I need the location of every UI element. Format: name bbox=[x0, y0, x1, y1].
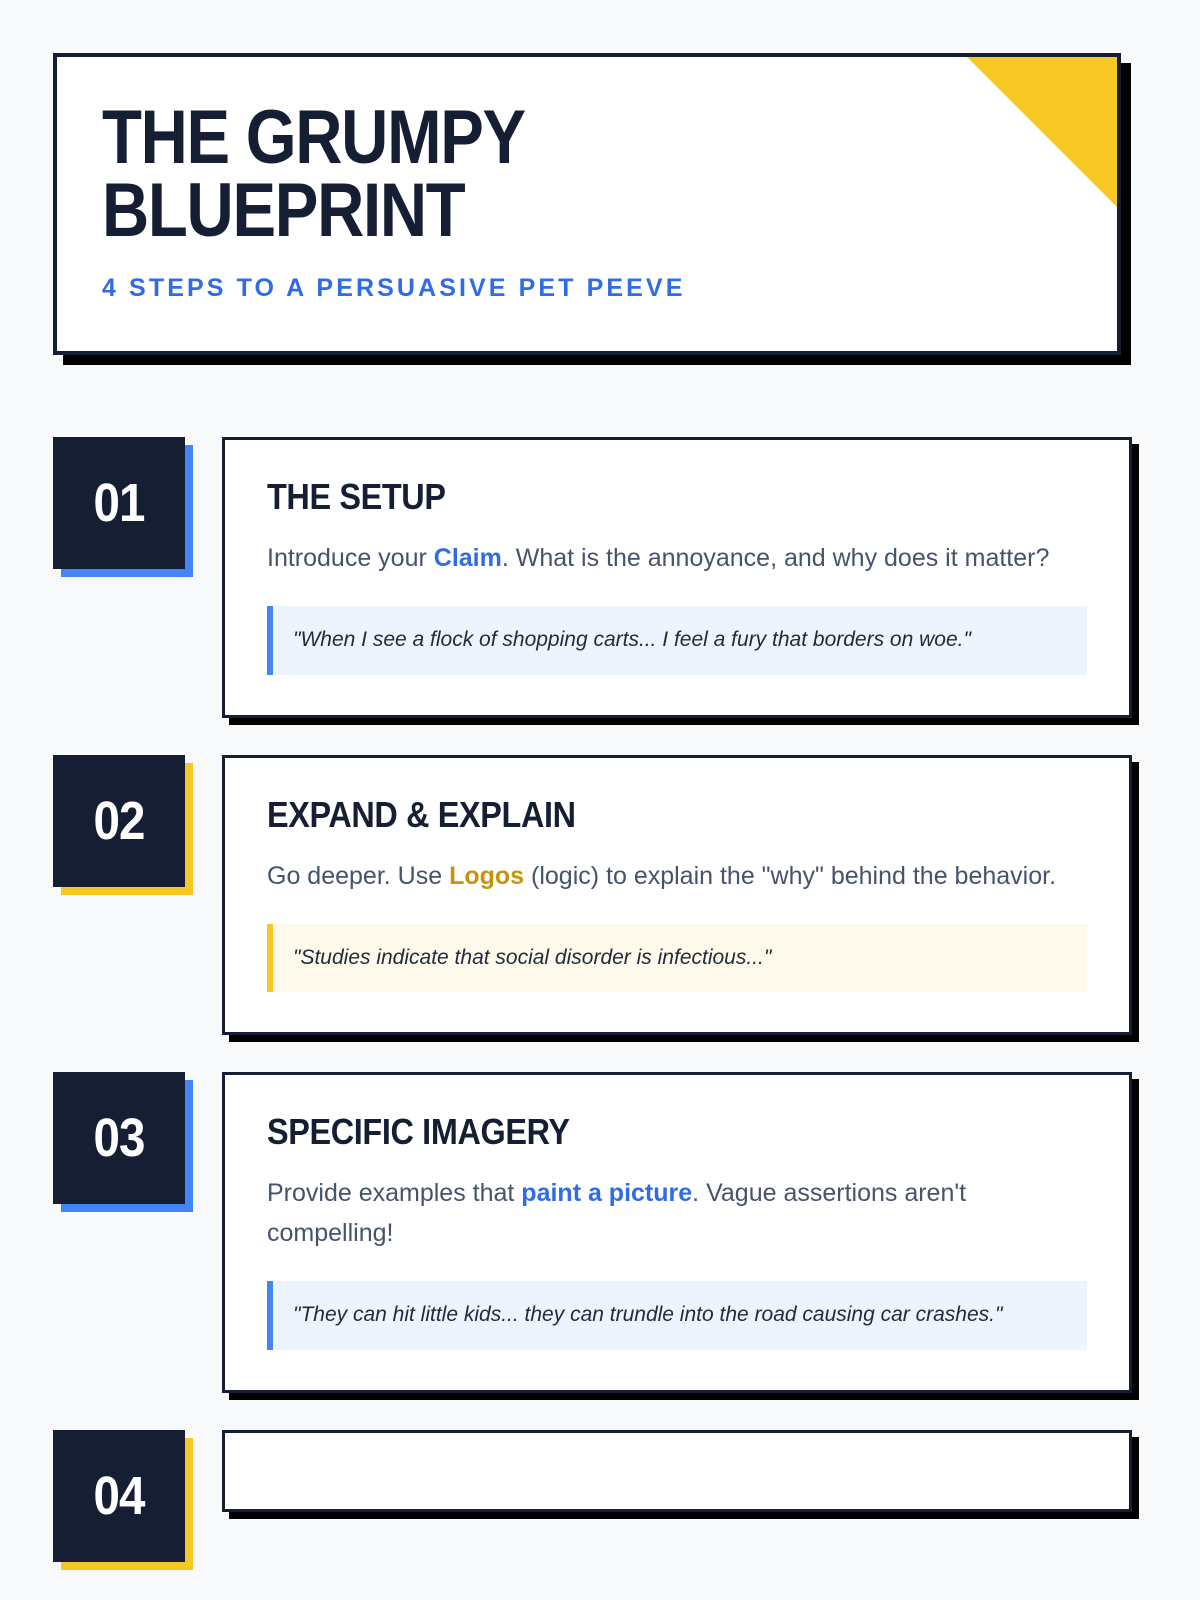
step-description: Go deeper. Use Logos (logic) to explain … bbox=[267, 856, 1087, 896]
step-number-badge: 02 bbox=[53, 755, 193, 895]
step-card bbox=[222, 1430, 1132, 1512]
page-subtitle: 4 STEPS TO A PERSUASIVE PET PEEVE bbox=[102, 274, 1117, 303]
desc-text-before: Introduce your bbox=[267, 544, 434, 572]
desc-highlight: Logos bbox=[449, 862, 524, 890]
page-title: THE GRUMPY BLUEPRINT bbox=[102, 102, 975, 248]
step-quote: "When I see a flock of shopping carts...… bbox=[267, 606, 1087, 675]
step-quote: "They can hit little kids... they can tr… bbox=[267, 1281, 1087, 1350]
desc-text-after: (logic) to explain the "why" behind the … bbox=[524, 862, 1056, 890]
desc-text-after: . What is the annoyance, and why does it… bbox=[502, 544, 1050, 572]
desc-highlight: paint a picture bbox=[521, 1179, 692, 1207]
step-card: THE SETUP Introduce your Claim. What is … bbox=[222, 437, 1132, 718]
badge-box: 01 bbox=[53, 437, 185, 569]
header-card: THE GRUMPY BLUEPRINT 4 STEPS TO A PERSUA… bbox=[53, 53, 1121, 355]
step-title: THE SETUP bbox=[267, 476, 1005, 518]
desc-text-before: Go deeper. Use bbox=[267, 862, 449, 890]
step-description: Provide examples that paint a picture. V… bbox=[267, 1173, 1087, 1253]
step-number: 03 bbox=[93, 1107, 144, 1169]
step-card-wrapper: EXPAND & EXPLAIN Go deeper. Use Logos (l… bbox=[222, 755, 1132, 1036]
step-row: 04 bbox=[53, 1430, 1200, 1570]
step-card-wrapper: THE SETUP Introduce your Claim. What is … bbox=[222, 437, 1132, 718]
step-row: 02 EXPAND & EXPLAIN Go deeper. Use Logos… bbox=[53, 755, 1200, 1036]
step-row: 01 THE SETUP Introduce your Claim. What … bbox=[53, 437, 1200, 718]
steps-list: 01 THE SETUP Introduce your Claim. What … bbox=[0, 437, 1200, 1570]
step-card-wrapper bbox=[222, 1430, 1132, 1512]
step-row: 03 SPECIFIC IMAGERY Provide examples tha… bbox=[53, 1072, 1200, 1393]
step-number-badge: 03 bbox=[53, 1072, 193, 1212]
step-quote: "Studies indicate that social disorder i… bbox=[267, 924, 1087, 993]
header-content: THE GRUMPY BLUEPRINT 4 STEPS TO A PERSUA… bbox=[57, 57, 1117, 303]
step-number-badge: 01 bbox=[53, 437, 193, 577]
badge-box: 03 bbox=[53, 1072, 185, 1204]
step-number: 01 bbox=[93, 472, 144, 534]
step-title: SPECIFIC IMAGERY bbox=[267, 1111, 1005, 1153]
step-card: SPECIFIC IMAGERY Provide examples that p… bbox=[222, 1072, 1132, 1393]
step-number-badge: 04 bbox=[53, 1430, 193, 1570]
desc-highlight: Claim bbox=[434, 544, 502, 572]
infographic-page: THE GRUMPY BLUEPRINT 4 STEPS TO A PERSUA… bbox=[0, 0, 1200, 1600]
desc-text-before: Provide examples that bbox=[267, 1179, 521, 1207]
step-description: Introduce your Claim. What is the annoya… bbox=[267, 538, 1087, 578]
badge-box: 04 bbox=[53, 1430, 185, 1562]
header-section: THE GRUMPY BLUEPRINT 4 STEPS TO A PERSUA… bbox=[53, 53, 1121, 355]
step-number: 02 bbox=[93, 790, 144, 852]
step-number: 04 bbox=[93, 1465, 144, 1527]
step-card: EXPAND & EXPLAIN Go deeper. Use Logos (l… bbox=[222, 755, 1132, 1036]
step-title: EXPAND & EXPLAIN bbox=[267, 794, 1005, 836]
step-card-wrapper: SPECIFIC IMAGERY Provide examples that p… bbox=[222, 1072, 1132, 1393]
badge-box: 02 bbox=[53, 755, 185, 887]
